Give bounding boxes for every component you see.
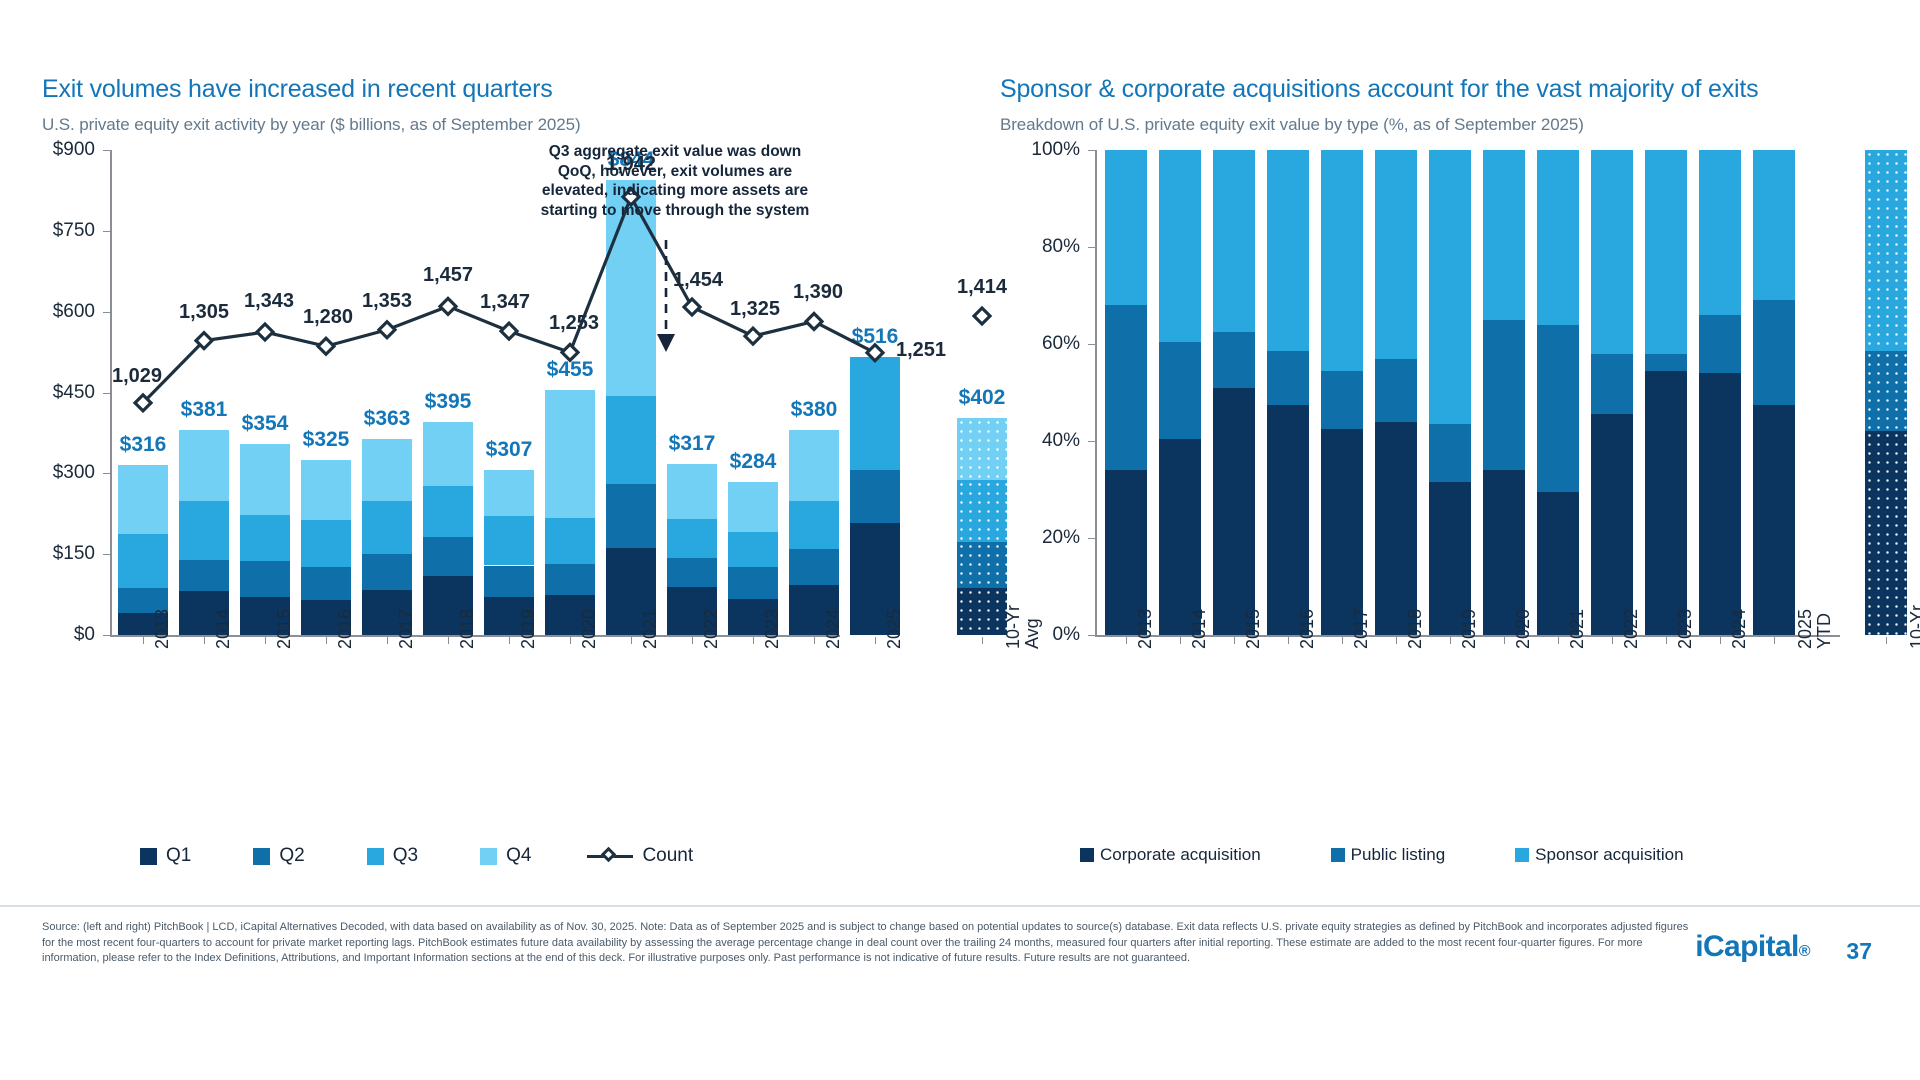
x-axis-label: 2019 xyxy=(1459,609,1480,649)
legend-item-count: Count xyxy=(587,845,693,867)
bar-segment-public-listing xyxy=(1159,342,1201,439)
x-axis-tick xyxy=(387,637,388,644)
slide: Exit volumes have increased in recent qu… xyxy=(0,0,1920,1080)
bar-group xyxy=(1865,150,1907,635)
bar-segment-public-listing xyxy=(1699,315,1741,373)
y-axis-tick xyxy=(1088,635,1095,636)
bar-segment-sponsor-acquisition xyxy=(1537,150,1579,325)
bar-group xyxy=(1429,150,1471,635)
x-axis-tick xyxy=(1886,637,1887,644)
count-value-label: 1,343 xyxy=(244,290,294,313)
x-axis-label: 2016 xyxy=(1297,609,1318,649)
bar-group xyxy=(1591,150,1633,635)
y-axis-tick xyxy=(103,393,110,394)
y-axis-label: 20% xyxy=(995,527,1080,549)
y-axis-label: $600 xyxy=(15,301,95,323)
left-chart-subtitle: U.S. private equity exit activity by yea… xyxy=(42,115,581,135)
y-axis-label: 40% xyxy=(995,430,1080,452)
bar-group xyxy=(1537,150,1579,635)
y-axis-tick xyxy=(1088,538,1095,539)
y-axis-tick xyxy=(103,231,110,232)
x-axis-tick xyxy=(509,637,510,644)
bar-segment-corporate-acquisition xyxy=(1213,388,1255,635)
y-axis-tick xyxy=(1088,344,1095,345)
x-axis-tick xyxy=(814,637,815,644)
left-chart-panel: Exit volumes have increased in recent qu… xyxy=(0,0,985,900)
bar-segment-corporate-acquisition xyxy=(1699,373,1741,635)
bar-group xyxy=(1753,150,1795,635)
legend-label: Sponsor acquisition xyxy=(1535,845,1683,865)
y-axis-tick xyxy=(1088,150,1095,151)
y-axis-tick xyxy=(103,150,110,151)
bar-segment-public-listing xyxy=(1645,354,1687,371)
x-axis-tick xyxy=(1666,637,1667,644)
bar-segment-sponsor-acquisition xyxy=(1213,150,1255,332)
bar-segment-sponsor-acquisition xyxy=(1321,150,1363,371)
bar-segment-sponsor-acquisition xyxy=(1645,150,1687,354)
y-axis-label: $750 xyxy=(15,220,95,242)
bar-group xyxy=(1483,150,1525,635)
bar-segment-public-listing xyxy=(1429,424,1471,482)
legend-item-q1: Q1 xyxy=(140,845,191,867)
bar-group xyxy=(850,150,900,635)
y-axis-label: $150 xyxy=(15,543,95,565)
x-axis-label: 2013 xyxy=(1135,609,1156,649)
x-axis-tick xyxy=(143,637,144,644)
x-axis-label-line: YTD xyxy=(1815,609,1834,649)
legend-swatch xyxy=(140,848,157,865)
x-axis-label: 2024 xyxy=(1729,609,1750,649)
x-axis-tick xyxy=(692,637,693,644)
x-axis-tick xyxy=(204,637,205,644)
legend-label: Count xyxy=(642,845,693,867)
count-value-label: 1,347 xyxy=(480,291,530,314)
bar-segment-public-listing xyxy=(1865,351,1907,431)
right-chart-subtitle: Breakdown of U.S. private equity exit va… xyxy=(1000,115,1584,135)
y-axis-tick xyxy=(103,473,110,474)
count-value-label: 1,390 xyxy=(793,281,843,304)
x-axis-label: 2025 xyxy=(884,609,905,649)
bar-segment-public-listing xyxy=(1483,320,1525,470)
x-axis-label: 2017 xyxy=(1351,609,1372,649)
x-axis-label: 2020 xyxy=(1513,609,1534,649)
bar-segment-corporate-acquisition xyxy=(1321,429,1363,635)
bar-segment-public-listing xyxy=(1537,325,1579,492)
right-chart-legend: Corporate acquisitionPublic listingSpons… xyxy=(1080,845,1684,865)
y-axis-line xyxy=(1095,150,1097,635)
x-axis-tick xyxy=(1504,637,1505,644)
y-axis-label: 60% xyxy=(995,333,1080,355)
bar-group xyxy=(1645,150,1687,635)
legend-label: Q1 xyxy=(166,845,191,867)
legend-label: Q2 xyxy=(279,845,304,867)
count-marker xyxy=(562,344,578,360)
x-axis-tick xyxy=(1234,637,1235,644)
legend-swatch xyxy=(1080,848,1094,862)
y-axis-label: $300 xyxy=(15,462,95,484)
bar-segment-sponsor-acquisition xyxy=(1105,150,1147,305)
x-axis-tick xyxy=(1180,637,1181,644)
y-axis-label: $0 xyxy=(15,624,95,646)
count-marker xyxy=(440,298,456,314)
x-axis-tick xyxy=(1450,637,1451,644)
count-marker xyxy=(745,328,761,344)
legend-label: Corporate acquisition xyxy=(1100,845,1261,865)
x-axis-label: 2021 xyxy=(1567,609,1588,649)
footer-divider xyxy=(0,905,1920,907)
x-axis-tick xyxy=(1720,637,1721,644)
legend-swatch xyxy=(1515,848,1529,862)
legend-swatch xyxy=(367,848,384,865)
bar-segment-sponsor-acquisition xyxy=(1375,150,1417,359)
y-axis-tick xyxy=(1088,441,1095,442)
x-axis-tick xyxy=(753,637,754,644)
x-axis-tick xyxy=(982,637,983,644)
bar-segment-sponsor-acquisition xyxy=(1429,150,1471,424)
y-axis-tick xyxy=(1088,247,1095,248)
legend-item-public-listing: Public listing xyxy=(1331,845,1446,865)
legend-item-q2: Q2 xyxy=(253,845,304,867)
bar-segment-sponsor-acquisition xyxy=(1267,150,1309,351)
count-value-label: 1,029 xyxy=(112,365,162,388)
x-axis-tick xyxy=(1612,637,1613,644)
count-value-label: 1,253 xyxy=(549,312,599,335)
bar-segment-q2 xyxy=(850,470,900,523)
x-axis-label: 2023 xyxy=(1675,609,1696,649)
bar-segment-corporate-acquisition xyxy=(1591,414,1633,635)
bar-group xyxy=(1159,150,1201,635)
x-axis-label-line: 2025 xyxy=(1796,609,1815,649)
y-axis-label: 0% xyxy=(995,624,1080,646)
x-axis-tick xyxy=(631,637,632,644)
x-axis-label: 2022 xyxy=(1621,609,1642,649)
count-value-label: 1,305 xyxy=(179,301,229,324)
count-marker xyxy=(379,322,395,338)
y-axis-label: $900 xyxy=(15,139,95,161)
bar-segment-corporate-acquisition xyxy=(1375,422,1417,635)
y-axis-label: 80% xyxy=(995,236,1080,258)
count-marker xyxy=(318,338,334,354)
right-plot-area: 0%20%40%60%80%100%2013201420152016201720… xyxy=(1095,150,1840,635)
x-axis-tick xyxy=(570,637,571,644)
x-axis-tick xyxy=(326,637,327,644)
bar-group xyxy=(1375,150,1417,635)
legend-swatch xyxy=(253,848,270,865)
x-axis-label: 2018 xyxy=(1405,609,1426,649)
count-value-label: 1,280 xyxy=(303,306,353,329)
x-axis-tick xyxy=(1288,637,1289,644)
legend-item-corporate-acquisition: Corporate acquisition xyxy=(1080,845,1261,865)
bar-group xyxy=(1105,150,1147,635)
legend-label: Q3 xyxy=(393,845,418,867)
y-axis-tick xyxy=(103,554,110,555)
y-axis-label: $450 xyxy=(15,382,95,404)
right-chart-title: Sponsor & corporate acquisitions account… xyxy=(1000,75,1758,104)
x-axis-tick xyxy=(1396,637,1397,644)
left-plot-area: $0$150$300$450$600$750$900$3162013$38120… xyxy=(110,150,840,635)
x-axis-label: 2014 xyxy=(1189,609,1210,649)
x-axis-label-line: 10-Yr xyxy=(1908,605,1920,649)
count-value-label: 1,353 xyxy=(362,290,412,313)
bar-segment-sponsor-acquisition xyxy=(1159,150,1201,342)
bar-group xyxy=(1321,150,1363,635)
count-value-label: 1,325 xyxy=(730,298,780,321)
count-legend-diamond xyxy=(601,847,617,863)
bar-segment-public-listing xyxy=(1753,300,1795,404)
bar-segment-public-listing xyxy=(1267,351,1309,404)
bar-group xyxy=(1699,150,1741,635)
x-axis-tick xyxy=(875,637,876,644)
x-axis-label: 10-YrAvg xyxy=(1908,605,1920,649)
count-value-label: 1,251 xyxy=(896,339,946,362)
bar-segment-public-listing xyxy=(1105,305,1147,470)
count-marker xyxy=(806,313,822,329)
y-axis-label: 100% xyxy=(995,139,1080,161)
icapital-logo: iCapital® xyxy=(1695,930,1810,964)
chart-annotation: Q3 aggregate exit value was down QoQ, ho… xyxy=(540,142,810,221)
bar-segment-sponsor-acquisition xyxy=(1483,150,1525,320)
legend-item-q4: Q4 xyxy=(480,845,531,867)
bar-segment-sponsor-acquisition xyxy=(1591,150,1633,354)
count-marker xyxy=(257,324,273,340)
annotation-arrow-icon xyxy=(650,240,690,360)
legend-label: Q4 xyxy=(506,845,531,867)
right-chart-panel: Sponsor & corporate acquisitions account… xyxy=(985,0,1920,900)
left-chart-title: Exit volumes have increased in recent qu… xyxy=(42,75,553,104)
page-number: 37 xyxy=(1846,938,1872,965)
y-axis-tick xyxy=(103,312,110,313)
bar-segment-corporate-acquisition xyxy=(1159,439,1201,635)
legend-swatch xyxy=(1331,848,1345,862)
x-axis-tick xyxy=(448,637,449,644)
count-line-series xyxy=(110,150,840,635)
x-axis-label: 2015 xyxy=(1243,609,1264,649)
count-legend-marker xyxy=(587,847,633,865)
count-value-label: 1,457 xyxy=(423,264,473,287)
x-axis-tick xyxy=(1774,637,1775,644)
x-axis-label: 2025YTD xyxy=(1796,609,1834,649)
legend-label: Public listing xyxy=(1351,845,1446,865)
bar-segment-corporate-acquisition xyxy=(1865,431,1907,635)
y-axis-tick xyxy=(103,635,110,636)
legend-swatch xyxy=(480,848,497,865)
x-axis-tick xyxy=(1126,637,1127,644)
bar-segment-sponsor-acquisition xyxy=(1699,150,1741,315)
bar-group xyxy=(1213,150,1255,635)
bar-segment-public-listing xyxy=(1591,354,1633,415)
brand-text: iCapital xyxy=(1695,930,1799,963)
x-axis-tick xyxy=(1342,637,1343,644)
legend-item-sponsor-acquisition: Sponsor acquisition xyxy=(1515,845,1683,865)
legend-item-q3: Q3 xyxy=(367,845,418,867)
bar-segment-q3 xyxy=(850,357,900,470)
bar-segment-corporate-acquisition xyxy=(1645,371,1687,635)
source-note: Source: (left and right) PitchBook | LCD… xyxy=(42,920,1702,967)
bar-segment-public-listing xyxy=(1321,371,1363,429)
x-axis-tick xyxy=(1558,637,1559,644)
bar-segment-public-listing xyxy=(1213,332,1255,388)
count-marker xyxy=(501,323,517,339)
bar-group xyxy=(1267,150,1309,635)
bar-segment-public-listing xyxy=(1375,359,1417,422)
x-axis-tick xyxy=(265,637,266,644)
bar-segment-corporate-acquisition xyxy=(1753,405,1795,635)
bar-segment-sponsor-acquisition xyxy=(1753,150,1795,300)
left-chart-legend: Q1Q2Q3Q4Count xyxy=(140,845,755,867)
bar-segment-corporate-acquisition xyxy=(1267,405,1309,635)
bar-segment-sponsor-acquisition xyxy=(1865,150,1907,351)
brand-registered-mark: ® xyxy=(1799,943,1810,960)
